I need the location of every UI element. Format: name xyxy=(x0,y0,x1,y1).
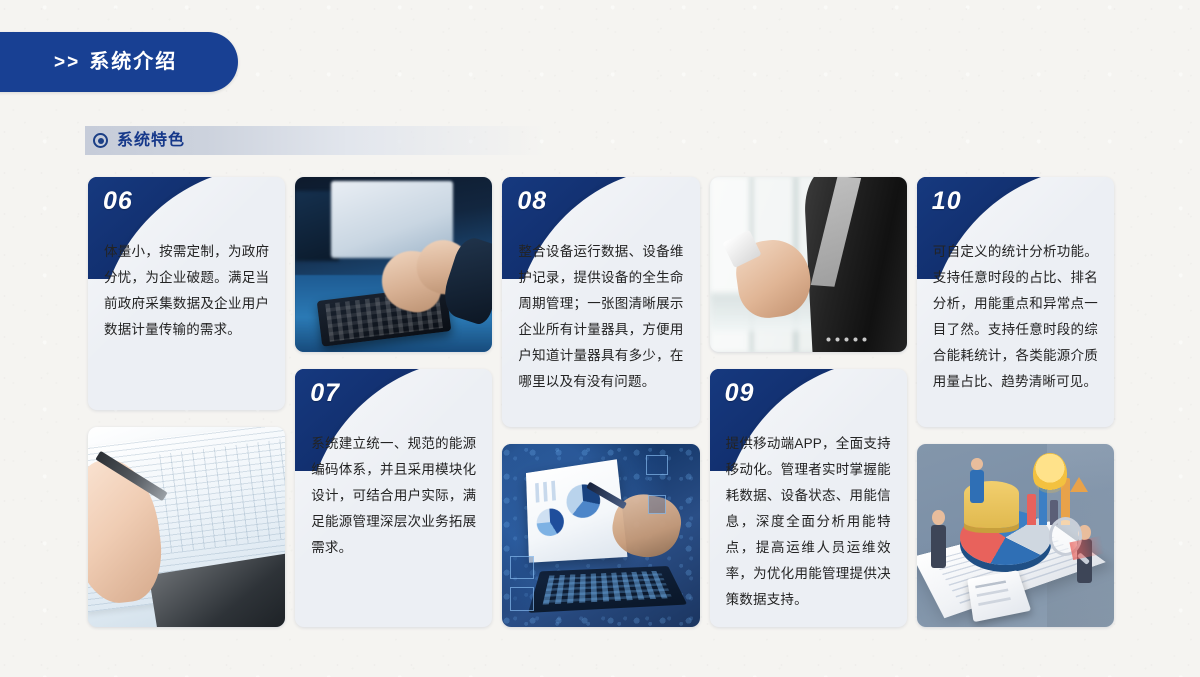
feature-card-09[interactable]: 09 提供移动端APP，全面支持移动化。管理者实时掌握能耗数据、设备状态、用能信… xyxy=(710,369,907,627)
page-title: 系统介绍 xyxy=(89,52,177,72)
writing-document-photo xyxy=(88,427,285,627)
card-number-text: 09 xyxy=(725,381,755,406)
feature-card-10[interactable]: 10 可自定义的统计分析功能。支持任意时段的占比、排名分析，用能重点和异常点一目… xyxy=(917,177,1114,427)
card-body-text: 整合设备运行数据、设备维护记录，提供设备的全生命周期管理；一张图清晰展示企业所有… xyxy=(518,239,683,395)
feature-card-08[interactable]: 08 整合设备运行数据、设备维护记录，提供设备的全生命周期管理；一张图清晰展示企… xyxy=(502,177,699,427)
card-number-text: 07 xyxy=(310,381,340,406)
target-circle-icon xyxy=(93,133,108,148)
section-title-pill: >> 系统介绍 xyxy=(0,32,238,92)
image-card-businessman-phone[interactable] xyxy=(710,177,907,352)
chevron-double-right-icon: >> xyxy=(54,53,80,72)
grid-column-5: 10 可自定义的统计分析功能。支持任意时段的占比、排名分析，用能重点和异常点一目… xyxy=(917,177,1114,627)
feature-card-07[interactable]: 07 系统建立统一、规范的能源编码体系，并且采用模块化设计，可结合用户实际，满足… xyxy=(295,369,492,627)
card-number-text: 10 xyxy=(932,189,962,214)
laptop-analytics-photo xyxy=(502,444,699,627)
businessman-phone-photo xyxy=(710,177,907,352)
subsection-header: 系统特色 xyxy=(85,126,565,155)
grid-column-2: 07 系统建立统一、规范的能源编码体系，并且采用模块化设计，可结合用户实际，满足… xyxy=(295,177,492,627)
card-body-text: 可自定义的统计分析功能。支持任意时段的占比、排名分析，用能重点和异常点一目了然。… xyxy=(933,239,1098,395)
subsection-title: 系统特色 xyxy=(117,133,185,149)
keyboard-typing-photo xyxy=(295,177,492,352)
card-number-text: 06 xyxy=(103,189,133,214)
grid-column-1: 06 体量小，按需定制，为政府分忧，为企业破题。满足当前政府采集数据及企业用户数… xyxy=(88,177,285,627)
card-body-text: 体量小，按需定制，为政府分忧，为企业破题。满足当前政府采集数据及企业用户数据计量… xyxy=(104,239,269,343)
image-card-writing-document[interactable] xyxy=(88,427,285,627)
feature-card-grid: 06 体量小，按需定制，为政府分忧，为企业破题。满足当前政府采集数据及企业用户数… xyxy=(88,177,1114,619)
image-card-isometric-analytics[interactable] xyxy=(917,444,1114,627)
image-card-keyboard-typing[interactable] xyxy=(295,177,492,352)
grid-column-3: 08 整合设备运行数据、设备维护记录，提供设备的全生命周期管理；一张图清晰展示企… xyxy=(502,177,699,627)
isometric-analytics-illustration xyxy=(917,444,1114,627)
card-body-text: 系统建立统一、规范的能源编码体系，并且采用模块化设计，可结合用户实际，满足能源管… xyxy=(311,431,476,561)
card-number-text: 08 xyxy=(517,189,547,214)
card-body-text: 提供移动端APP，全面支持移动化。管理者实时掌握能耗数据、设备状态、用能信息，深… xyxy=(726,431,891,613)
image-card-laptop-analytics[interactable] xyxy=(502,444,699,627)
feature-card-06[interactable]: 06 体量小，按需定制，为政府分忧，为企业破题。满足当前政府采集数据及企业用户数… xyxy=(88,177,285,410)
grid-column-4: 09 提供移动端APP，全面支持移动化。管理者实时掌握能耗数据、设备状态、用能信… xyxy=(710,177,907,627)
